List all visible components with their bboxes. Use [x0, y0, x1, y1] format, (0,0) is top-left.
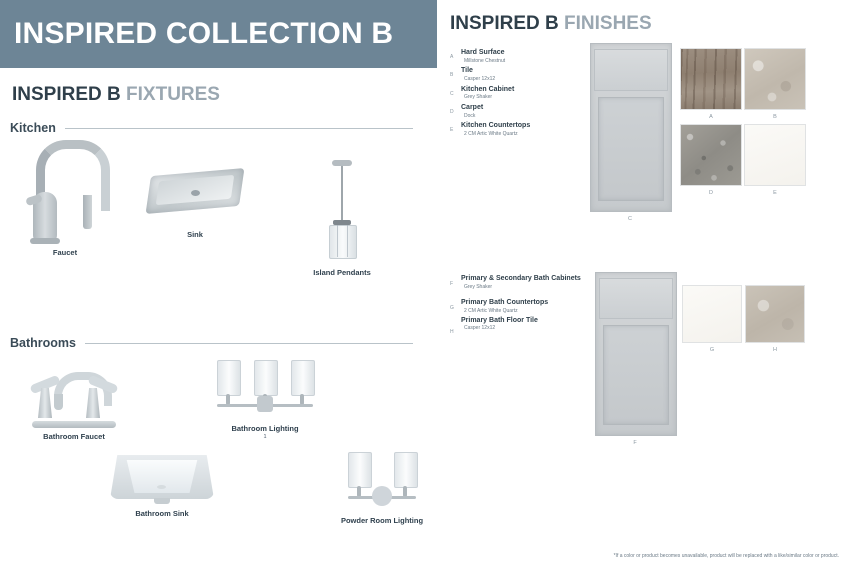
finishes-legend-bottom: F Primary & Secondary Bath Cabinets Grey…: [450, 275, 595, 338]
legend-sub: Casper 12x12: [461, 325, 595, 332]
collection-title-bar: INSPIRED COLLECTION B: [0, 0, 437, 68]
legend-sub: Casper 12x12: [461, 76, 590, 83]
legend-name: Tile: [461, 67, 590, 76]
section-header-bathrooms: Bathrooms: [10, 336, 413, 350]
legend-key: A: [450, 49, 461, 60]
kitchen-faucet-icon: [22, 140, 108, 244]
legend-key: E: [450, 122, 461, 133]
finishes-title: INSPIRED B FINISHES: [450, 13, 652, 35]
legend-name: Carpet: [461, 104, 590, 113]
fixture-label: Bathroom Sink: [105, 509, 219, 518]
swatch-key: H: [746, 347, 804, 353]
legend-item: E Kitchen Countertops 2 CM Artic White Q…: [450, 122, 590, 137]
legend-sub: Dock: [461, 113, 590, 120]
fixture-bathroom-lighting: Bathroom Lighting 1: [202, 358, 328, 440]
pendant-light-icon: [319, 160, 365, 264]
fixtures-subtitle-strong: INSPIRED B: [12, 84, 121, 105]
kitchen-sink-icon: [149, 170, 241, 212]
fixtures-column: INSPIRED COLLECTION B INSPIRED B FIXTURE…: [0, 0, 437, 569]
swatch-key: D: [681, 190, 741, 196]
finish-swatch-a: A: [680, 48, 742, 110]
legend-sub: Grey Shaker: [461, 284, 595, 291]
swatch-key: E: [745, 190, 805, 196]
section-rule-bathrooms: [85, 343, 413, 344]
fixture-label: Bathroom Faucet: [18, 432, 130, 441]
vanity-light-icon: [211, 358, 319, 420]
legend-item: G Primary Bath Countertops 2 CM Artic Wh…: [450, 299, 595, 314]
finish-swatch-h: H: [745, 285, 805, 343]
fixture-label: Island Pendants: [292, 268, 392, 277]
fixture-sink: Sink: [140, 170, 250, 239]
legend-item: A Hard Surface Millstone Chestnut: [450, 49, 590, 64]
fixtures-subtitle-light: FIXTURES: [126, 84, 220, 105]
section-label-bathrooms: Bathrooms: [10, 336, 76, 350]
fixtures-subtitle: INSPIRED B FIXTURES: [12, 84, 220, 106]
kitchen-cabinet-door: C: [590, 43, 670, 210]
section-label-kitchen: Kitchen: [10, 121, 56, 135]
legend-item: H Primary Bath Floor Tile Casper 12x12: [450, 317, 595, 335]
cabinet-key: F: [595, 440, 675, 446]
legend-sub: 2 CM Artic White Quartz: [461, 308, 595, 315]
page-title: INSPIRED COLLECTION B: [0, 17, 393, 51]
finishes-legend-top: A Hard Surface Millstone Chestnut B Tile…: [450, 49, 590, 140]
fixture-label: Bathroom Lighting: [202, 424, 328, 433]
fixture-island-pendants: Island Pendants: [292, 160, 392, 277]
finish-swatch-b: B: [744, 48, 806, 110]
legend-name: Kitchen Cabinet: [461, 86, 590, 95]
bathroom-faucet-icon: [24, 362, 124, 428]
legend-sub: Grey Shaker: [461, 94, 590, 101]
finishes-column: INSPIRED B FINISHES A Hard Surface Mills…: [437, 0, 853, 569]
collection-board: INSPIRED COLLECTION B INSPIRED B FIXTURE…: [0, 0, 853, 569]
fixture-bathroom-sink: Bathroom Sink: [105, 455, 219, 518]
fixture-faucet: Faucet: [10, 140, 120, 257]
powder-room-light-icon: [340, 450, 424, 512]
swatch-key: G: [683, 347, 741, 353]
legend-name: Primary & Secondary Bath Cabinets: [461, 275, 595, 284]
fixture-powder-room-lighting: Powder Room Lighting: [327, 450, 437, 525]
bath-cabinet-door: F: [595, 272, 675, 434]
fixture-sublabel: 1: [202, 434, 328, 440]
legend-name: Primary Bath Countertops: [461, 299, 595, 308]
legend-item: F Primary & Secondary Bath Cabinets Grey…: [450, 275, 595, 290]
disclaimer-footnote: *If a color or product becomes unavailab…: [614, 553, 839, 559]
finishes-title-strong: INSPIRED B: [450, 13, 559, 34]
swatch-key: A: [681, 114, 741, 120]
section-rule-kitchen: [65, 128, 413, 129]
legend-key: C: [450, 86, 461, 97]
cabinet-key: C: [590, 216, 670, 222]
finish-swatch-g: G: [682, 285, 742, 343]
legend-item: B Tile Casper 12x12: [450, 67, 590, 82]
bathroom-sink-icon: [110, 455, 214, 505]
fixture-bathroom-faucet: Bathroom Faucet: [18, 362, 130, 441]
swatch-key: B: [745, 114, 805, 120]
legend-key: D: [450, 104, 461, 115]
fixture-label: Faucet: [10, 248, 120, 257]
legend-key: H: [450, 317, 461, 335]
legend-name: Hard Surface: [461, 49, 590, 58]
legend-sub: Millstone Chestnut: [461, 58, 590, 65]
legend-key: G: [450, 299, 461, 311]
legend-key: B: [450, 67, 461, 78]
fixture-label: Powder Room Lighting: [327, 516, 437, 525]
legend-name: Primary Bath Floor Tile: [461, 317, 595, 326]
legend-name: Kitchen Countertops: [461, 122, 590, 131]
finish-swatch-e: E: [744, 124, 806, 186]
section-header-kitchen: Kitchen: [10, 121, 413, 135]
fixture-label: Sink: [140, 230, 250, 239]
legend-item: C Kitchen Cabinet Grey Shaker: [450, 86, 590, 101]
finish-swatch-d: D: [680, 124, 742, 186]
finishes-title-light: FINISHES: [564, 13, 652, 34]
legend-key: F: [450, 275, 461, 287]
legend-sub: 2 CM Artic White Quartz: [461, 131, 590, 138]
legend-item: D Carpet Dock: [450, 104, 590, 119]
